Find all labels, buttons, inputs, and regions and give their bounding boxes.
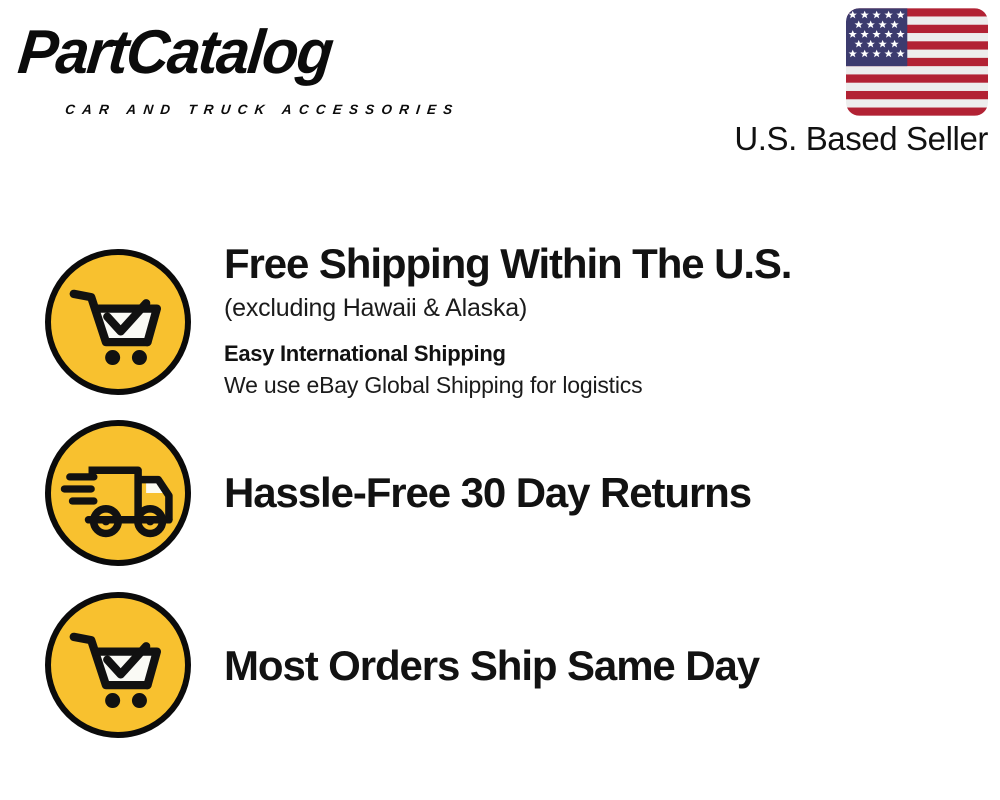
shopping-cart-check-icon bbox=[45, 592, 191, 738]
feature-subheading: Easy International Shipping bbox=[224, 339, 990, 369]
feature-note: We use eBay Global Shipping for logistic… bbox=[224, 370, 990, 401]
feature-subline: (excluding Hawaii & Alaska) bbox=[224, 292, 990, 325]
brand-wordmark: PartCatalog bbox=[15, 18, 335, 88]
feature-text-same-day: Most Orders Ship Same Day bbox=[224, 642, 990, 690]
feature-text-free-shipping: Free Shipping Within The U.S. (excluding… bbox=[224, 240, 990, 401]
brand-logo: PartCatalog CAR AND TRUCK ACCESSORIES bbox=[22, 18, 492, 113]
shipping-info-banner: PartCatalog CAR AND TRUCK ACCESSORIES bbox=[0, 0, 1000, 800]
feature-row-free-shipping: Free Shipping Within The U.S. (excluding… bbox=[0, 240, 1000, 415]
feature-text-returns: Hassle-Free 30 Day Returns bbox=[224, 469, 990, 517]
feature-headline: Most Orders Ship Same Day bbox=[224, 642, 990, 690]
feature-row-same-day: Most Orders Ship Same Day bbox=[0, 588, 1000, 758]
us-flag-icon bbox=[846, 8, 988, 116]
brand-tagline: CAR AND TRUCK ACCESSORIES bbox=[64, 102, 460, 117]
shopping-cart-check-icon bbox=[45, 249, 191, 395]
feature-headline: Hassle-Free 30 Day Returns bbox=[224, 469, 990, 517]
delivery-truck-icon bbox=[45, 420, 191, 566]
feature-headline: Free Shipping Within The U.S. bbox=[224, 240, 990, 288]
seller-location-label: U.S. Based Seller bbox=[708, 120, 988, 158]
us-based-seller-badge: U.S. Based Seller bbox=[708, 8, 988, 158]
feature-row-returns: Hassle-Free 30 Day Returns bbox=[0, 415, 1000, 585]
